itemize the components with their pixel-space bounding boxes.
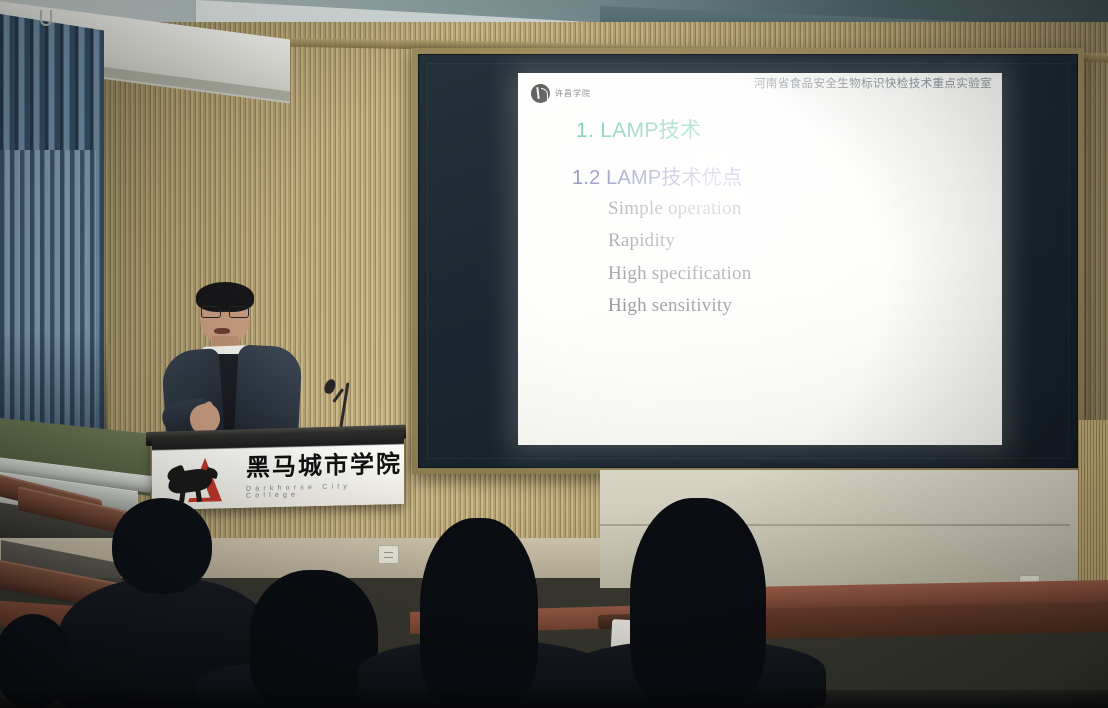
slide-bullet-list: Simple operation Rapidity High specifica…	[608, 193, 751, 322]
list-item: High sensitivity	[608, 290, 751, 322]
podium-sign-text: 黑马城市学院 Darkhorse City College	[246, 453, 404, 500]
wall-pillar	[1078, 420, 1108, 600]
lecture-hall-photo: 许昌学院 河南省食品安全生物标识快检技术重点实验室 1. LAMP技术 1.2 …	[0, 0, 1108, 708]
audience-member-head	[630, 498, 766, 708]
list-item: Rapidity	[608, 225, 751, 257]
podium: 黑马城市学院 Darkhorse City College	[152, 432, 404, 510]
lab-title-text: 河南省食品安全生物标识快检技术重点实验室	[754, 75, 992, 91]
slide-header: 许昌学院	[518, 80, 1002, 106]
list-item: High specification	[608, 258, 751, 290]
power-outlet-icon	[378, 545, 399, 564]
glasses-icon	[201, 306, 249, 316]
foreground-shadow	[0, 690, 1108, 708]
glasses-bridge	[219, 310, 231, 312]
slide-subsection-title: 1.2 LAMP技术优点	[572, 161, 742, 190]
podium-sign: 黑马城市学院 Darkhorse City College	[152, 445, 404, 510]
university-logo-text: 许昌学院	[555, 88, 591, 99]
audience-member-head	[112, 498, 212, 594]
audience-member-head	[420, 518, 538, 708]
university-logo-icon	[531, 84, 550, 103]
projection-screen-frame: 许昌学院 河南省食品安全生物标识快检技术重点实验室 1. LAMP技术 1.2 …	[412, 48, 1084, 474]
podium-sign-chinese: 黑马城市学院	[246, 453, 404, 481]
darkhorse-logo-icon	[166, 454, 240, 504]
podium-sign-english: Darkhorse City College	[246, 482, 404, 500]
presenter-mouth	[214, 328, 230, 334]
projection-screen-border: 许昌学院 河南省食品安全生物标识快检技术重点实验室 1. LAMP技术 1.2 …	[418, 54, 1078, 468]
curtain-rail-hook-icon	[40, 10, 52, 26]
logo-horse-leg	[179, 488, 186, 502]
projected-slide: 许昌学院 河南省食品安全生物标识快检技术重点实验室 1. LAMP技术 1.2 …	[518, 73, 1002, 445]
slide-section-title: 1. LAMP技术	[576, 114, 701, 144]
projector-glow	[518, 73, 1002, 445]
list-item: Simple operation	[608, 193, 751, 225]
